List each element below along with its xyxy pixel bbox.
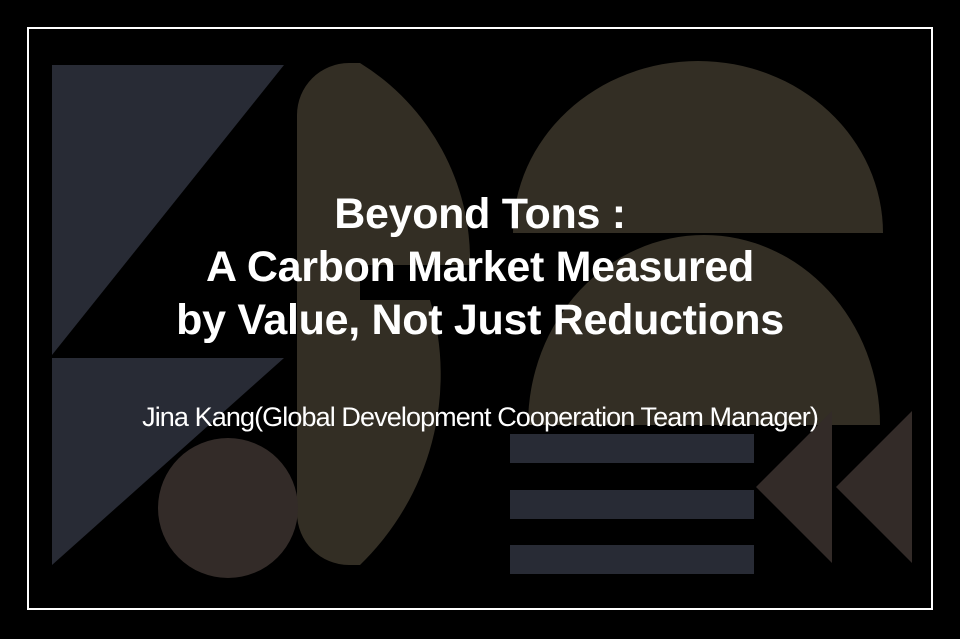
olive-column-left — [297, 63, 360, 565]
olive-quarter-arc — [360, 63, 470, 265]
navy-triangle-upper-left — [52, 65, 284, 355]
brown-triangle-left-1 — [756, 411, 832, 563]
navy-bar-1 — [510, 434, 754, 463]
olive-semicircle-upper-right — [513, 61, 883, 233]
olive-arc-lower — [360, 300, 441, 565]
olive-semicircle-lower-right — [528, 235, 880, 425]
navy-bar-2 — [510, 490, 754, 519]
navy-bar-3 — [510, 545, 754, 574]
brown-circle — [158, 438, 298, 578]
title-slide: Beyond Tons : A Carbon Market Measured b… — [0, 0, 960, 639]
decorative-background — [0, 0, 960, 639]
brown-triangle-left-2 — [836, 411, 912, 563]
